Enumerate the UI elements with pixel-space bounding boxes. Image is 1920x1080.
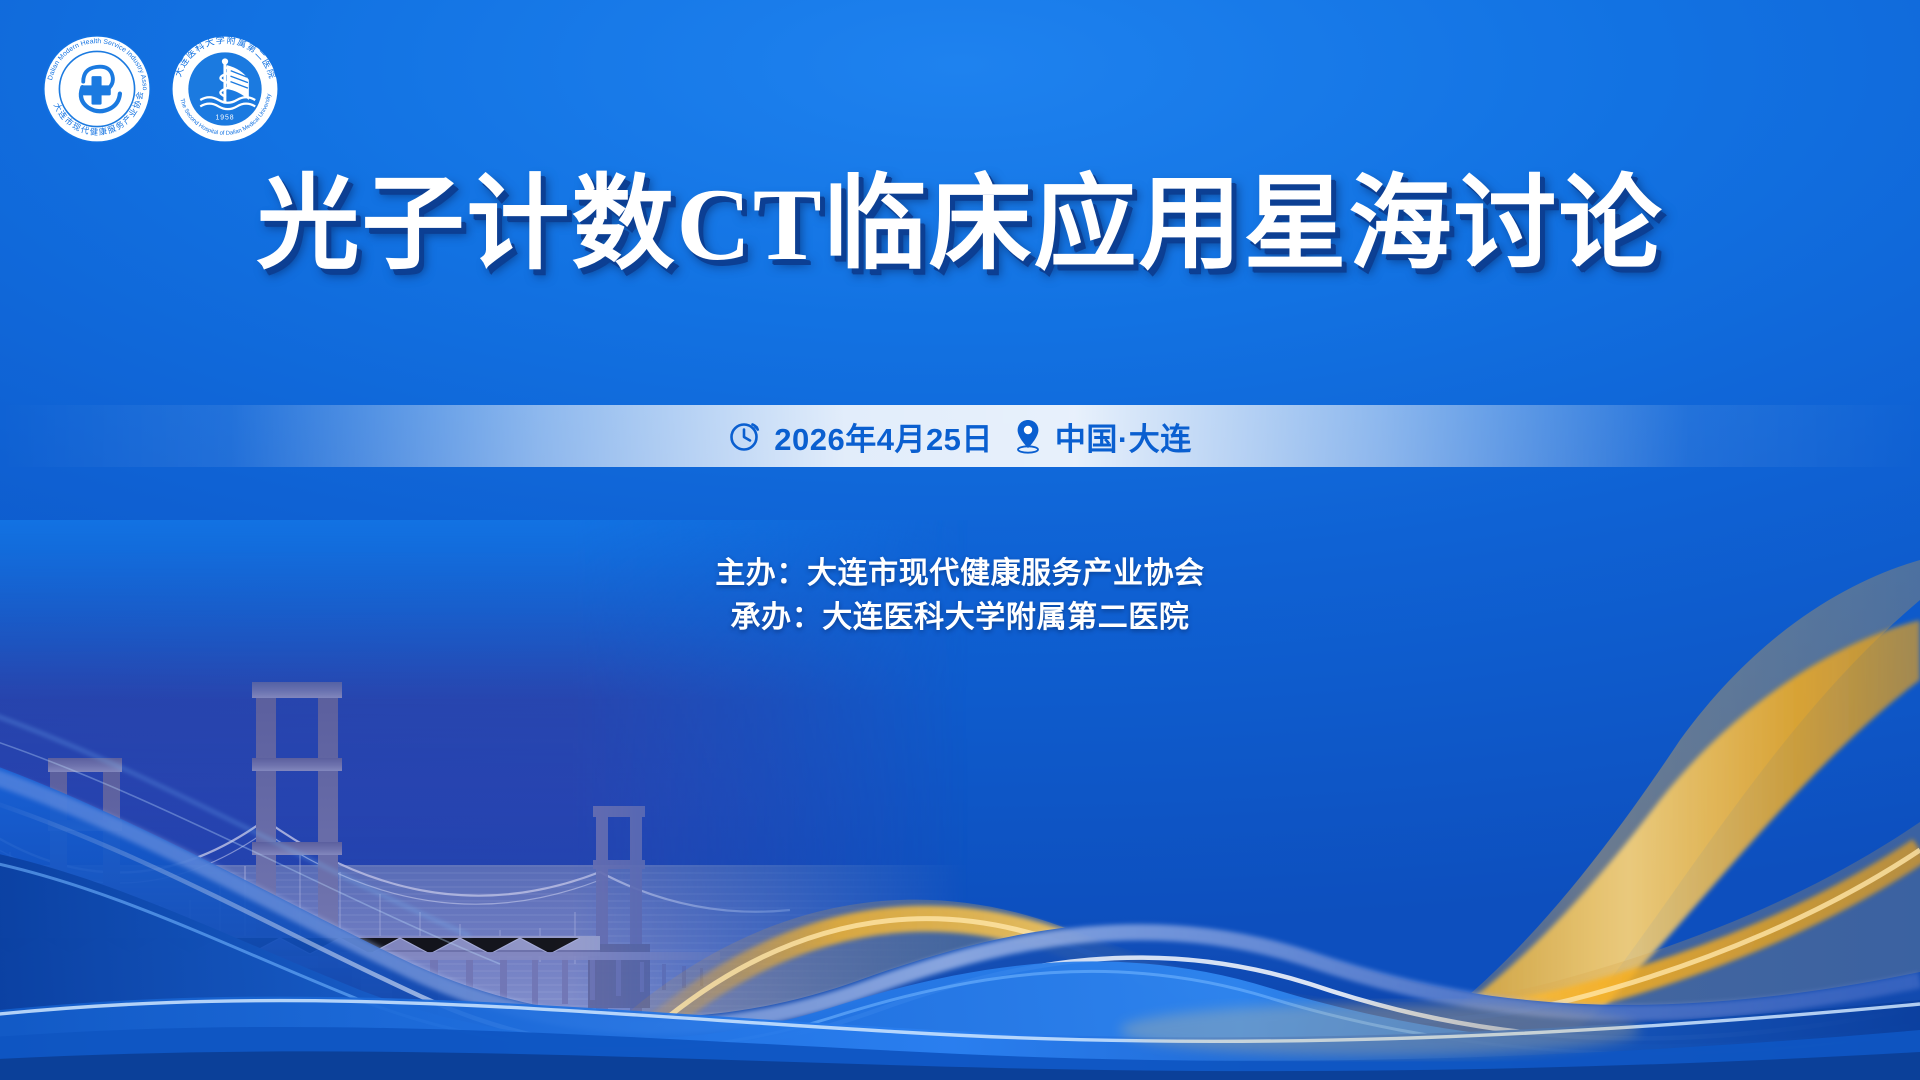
organizer-block: 主办：大连市现代健康服务产业协会 承办：大连医科大学附属第二医院 [0,552,1920,641]
organizer-host: 主办：大连市现代健康服务产业协会 [0,552,1920,596]
event-location-item: 中国·大连 [1013,414,1192,459]
svg-text:1958: 1958 [216,114,235,121]
second-hospital-dalian-medical-university-logo: 1958 大连医科大学附属第二医院 The Second Hospital of… [170,34,280,144]
event-date-item: 2026年4月25日 [728,414,993,459]
conference-poster: Dalian Modern Health Service Industry As… [0,0,1920,1080]
logo-group: Dalian Modern Health Service Industry As… [42,34,280,144]
clock-icon [728,419,762,453]
event-location: 中国·大连 [1055,414,1192,459]
dalian-modern-health-service-industry-association-logo: Dalian Modern Health Service Industry As… [42,34,152,144]
poster-title: 光子计数CT临床应用星海讨论 [256,168,1663,283]
event-meta-bar: 2026年4月25日 中国·大连 [0,405,1920,467]
poster-title-wrap: 光子计数CT临床应用星海讨论 [0,168,1920,283]
organizer-coorganizer: 承办：大连医科大学附属第二医院 [0,596,1920,640]
event-date: 2026年4月25日 [774,414,993,459]
location-pin-icon [1013,418,1043,454]
